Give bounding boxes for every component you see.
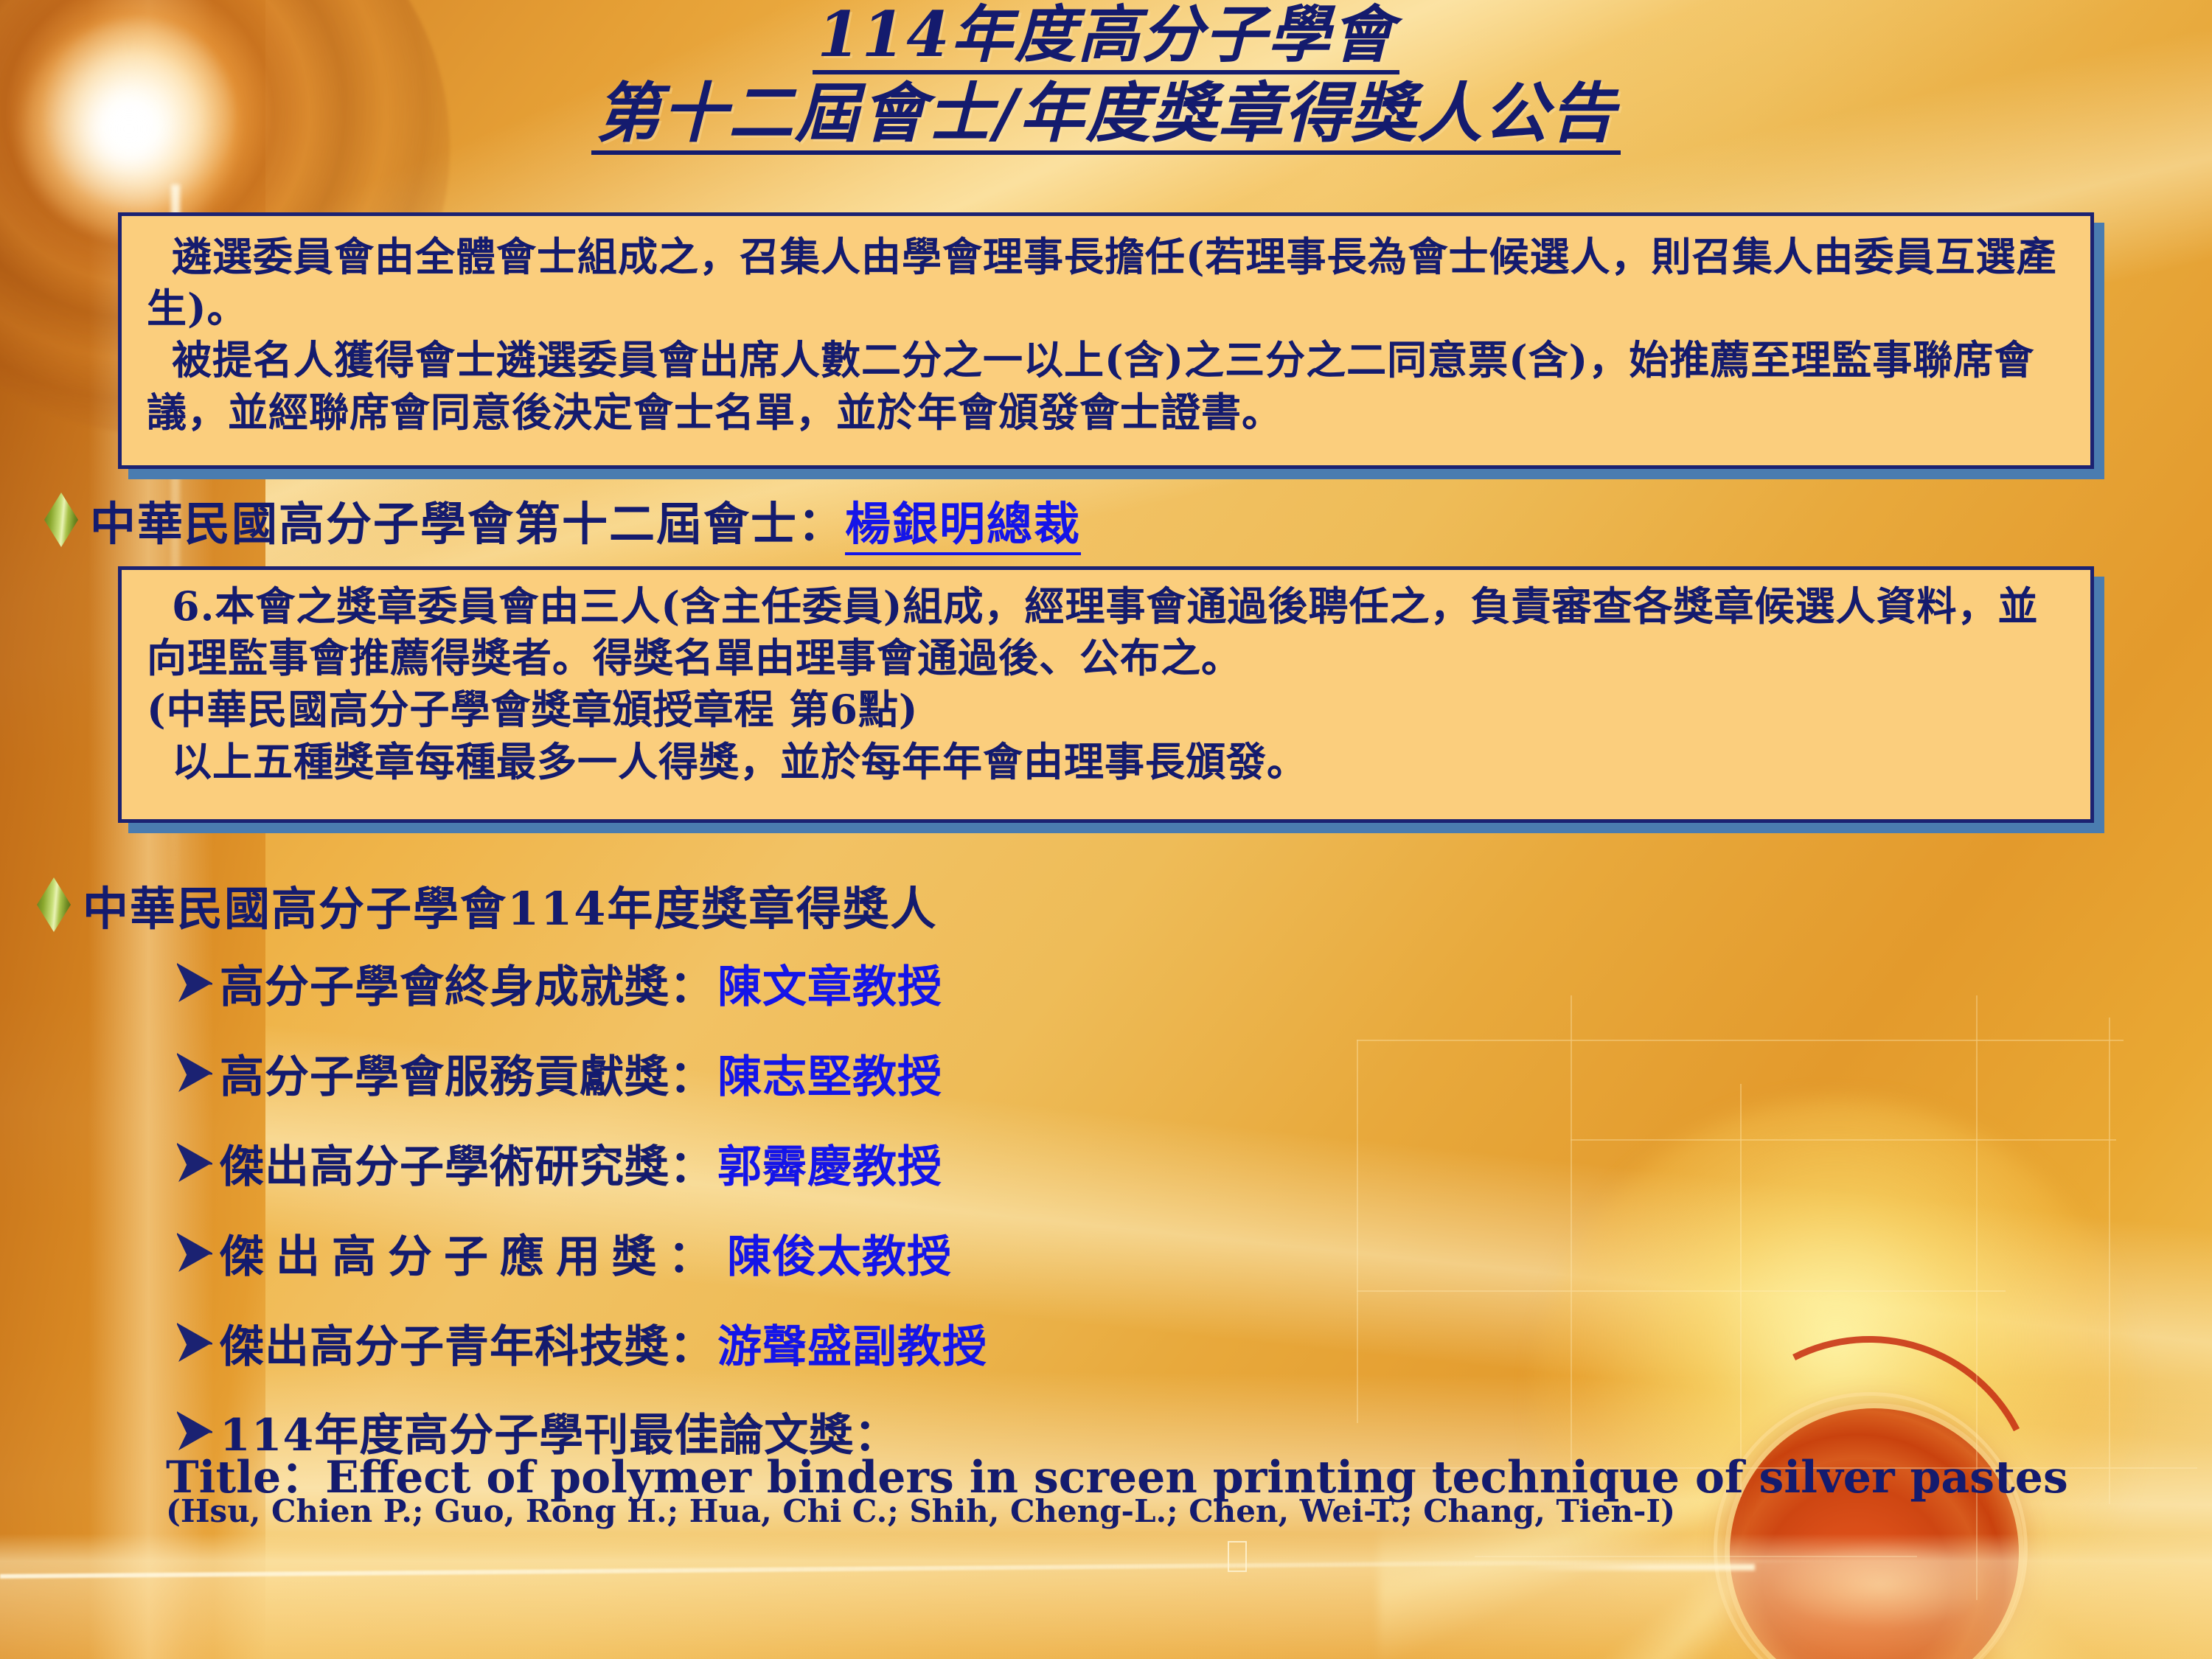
slide-content: 114年度高分子學會 第十二屆會士/年度獎章得獎人公告 遴選委員會由全體會士組成… [0, 0, 2212, 1659]
fellow-row-text: 中華民國高分子學會第十二屆會士：楊銀明總裁 [90, 487, 1081, 553]
page-title-line-2: 第十二屆會士/年度獎章得獎人公告 [591, 79, 1621, 155]
panel1-paragraph-1: 遴選委員會由全體會士組成之，召集人由學會理事長擔任(若理事長為會士候選人，則召集… [147, 231, 2065, 334]
award-label: 傑出高分子應用獎： [220, 1221, 724, 1285]
page-title: 114年度高分子學會 第十二屆會士/年度獎章得獎人公告 [0, 1, 2212, 155]
award-recipient: 陳俊太教授 [727, 1221, 952, 1285]
award-list-item: 傑出高分子學術研究獎： 郭霽慶教授 [177, 1131, 942, 1195]
medal-committee-rules-panel: 6.本會之獎章委員會由三人(含主任委員)組成，經理事會通過後聘任之，負責審查各獎… [118, 566, 2094, 823]
fellow-label: 中華民國高分子學會第十二屆會士： [90, 497, 845, 551]
award-label: 高分子學會服務貢獻獎： [220, 1041, 714, 1105]
fellow-selection-rules-panel: 遴選委員會由全體會士組成之，召集人由學會理事長擔任(若理事長為會士候選人，則召集… [118, 212, 2094, 469]
award-list-item: 傑出高分子應用獎： 陳俊太教授 [177, 1221, 952, 1285]
award-recipient: 陳志堅教授 [717, 1041, 942, 1105]
award-label: 傑出高分子學術研究獎： [220, 1131, 714, 1195]
award-list-item: 傑出高分子青年科技獎： 游聲盛副教授 [177, 1311, 987, 1375]
arrow-bullet-icon [177, 1232, 212, 1275]
awards-heading-row: 中華民國高分子學會114年度獎章得獎人 [37, 872, 937, 938]
best-paper-authors: (Hsu, Chien P.; Guo, Rong H.; Hua, Chi C… [166, 1493, 1675, 1529]
panel2-paragraph-1: 6.本會之獎章委員會由三人(含主任委員)組成，經理事會通過後聘任之，負責審查各獎… [147, 580, 2065, 684]
award-list-item: 高分子學會服務貢獻獎： 陳志堅教授 [177, 1041, 942, 1105]
page-title-line-1: 114年度高分子學會 [813, 1, 1399, 74]
award-recipient: 陳文章教授 [717, 951, 942, 1015]
award-recipient: 游聲盛副教授 [717, 1311, 987, 1375]
panel2-citation-wrap: (中華民國高分子學會獎章頒授章程 第6點) [147, 684, 2065, 735]
diamond-bullet-icon [44, 493, 78, 547]
panel1-paragraph-2: 被提名人獲得會士遴選委員會出席人數二分之一以上(含)之三分之二同意票(含)，始推… [147, 334, 2065, 437]
fellow-announcement-row: 中華民國高分子學會第十二屆會士：楊銀明總裁 [44, 487, 1081, 553]
arrow-bullet-icon [177, 1142, 212, 1185]
arrow-bullet-icon [177, 1052, 212, 1095]
award-label: 傑出高分子青年科技獎： [220, 1311, 714, 1375]
arrow-bullet-icon [177, 962, 212, 1005]
awards-heading: 中華民國高分子學會114年度獎章得獎人 [83, 872, 937, 938]
award-label: 高分子學會終身成就獎： [220, 951, 714, 1015]
fellow-name: 楊銀明總裁 [845, 497, 1081, 555]
panel2-citation: (中華民國高分子學會獎章頒授章程 第6點) [147, 686, 918, 733]
award-recipient: 郭霽慶教授 [717, 1131, 942, 1195]
award-list-item: 高分子學會終身成就獎： 陳文章教授 [177, 951, 942, 1015]
panel2-paragraph-2: 以上五種獎章每種最多一人得獎，並於每年年會由理事長頒發。 [147, 736, 2065, 787]
diamond-bullet-icon [37, 877, 71, 932]
arrow-bullet-icon [177, 1322, 212, 1365]
